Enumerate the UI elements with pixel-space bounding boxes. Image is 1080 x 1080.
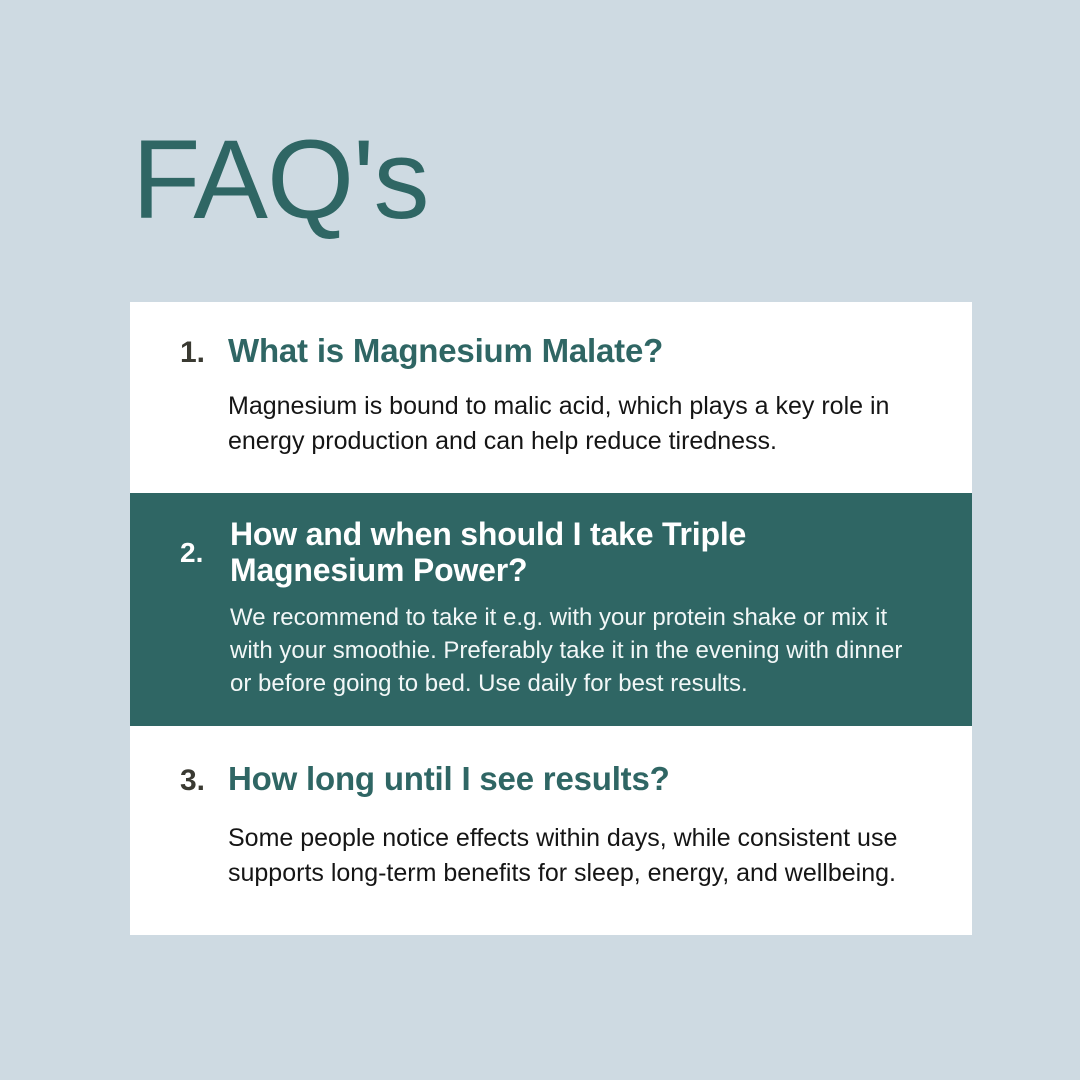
faq-question-text: How and when should I take Triple Magnes… [230, 517, 920, 589]
page-title: FAQ's [132, 124, 428, 236]
faq-question-text: How long until I see results? [228, 760, 920, 798]
faq-answer-text: Magnesium is bound to malic acid, which … [228, 389, 918, 459]
faq-item-2[interactable]: 2. How and when should I take Triple Mag… [130, 493, 972, 726]
faq-question-text: What is Magnesium Malate? [228, 332, 920, 370]
faq-card: 1. What is Magnesium Malate? Magnesium i… [130, 302, 972, 935]
faq-answer-text: Some people notice effects within days, … [228, 821, 920, 891]
faq-item-number: 1. [180, 335, 228, 371]
faq-item-1[interactable]: 1. What is Magnesium Malate? Magnesium i… [130, 302, 972, 493]
faq-question-row: 1. What is Magnesium Malate? [180, 332, 920, 371]
faq-question-row: 3. How long until I see results? [180, 760, 920, 799]
faq-item-number: 2. [180, 536, 230, 570]
faq-question-row: 2. How and when should I take Triple Mag… [180, 517, 920, 589]
faq-item-number: 3. [180, 763, 228, 799]
faq-answer-text: We recommend to take it e.g. with your p… [230, 601, 920, 700]
faq-page: FAQ's 1. What is Magnesium Malate? Magne… [0, 0, 1080, 1080]
faq-item-3[interactable]: 3. How long until I see results? Some pe… [130, 726, 972, 935]
